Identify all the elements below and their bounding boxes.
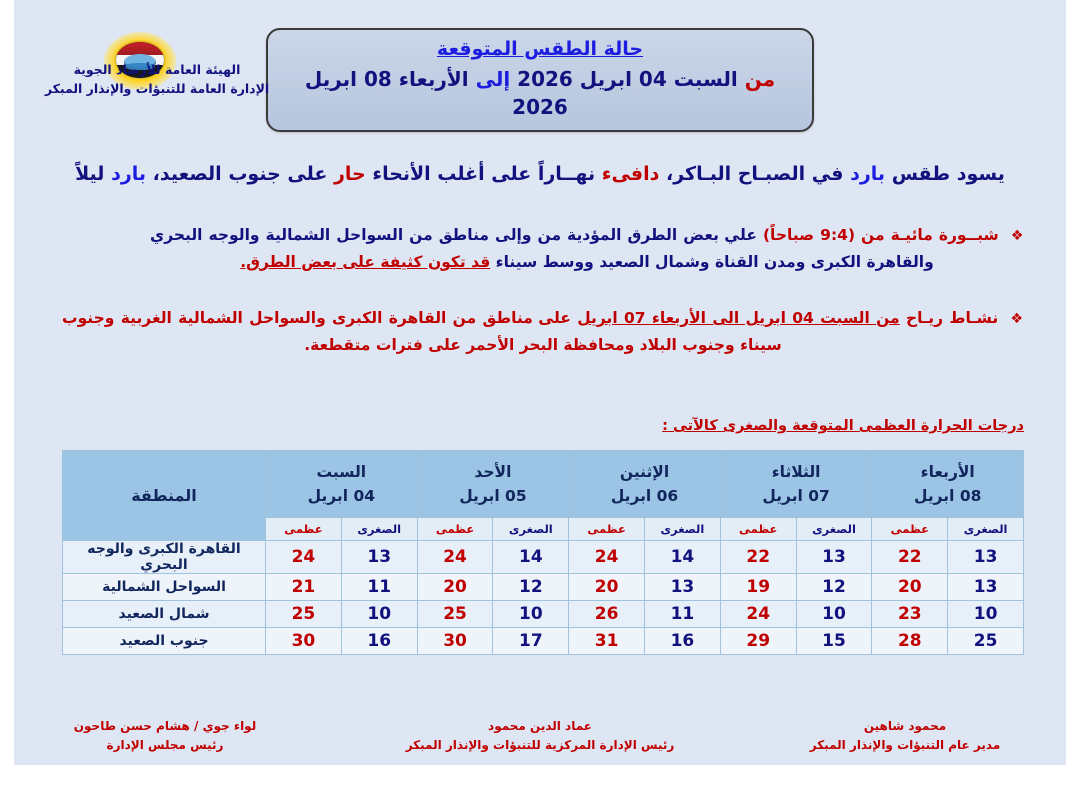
title-box: حالة الطقس المتوقعة من السبت 04 ابريل 20… — [266, 28, 814, 132]
wind-bullet-lead: نشـاط ريـاح — [906, 309, 998, 327]
min-temp-cell: 10 — [796, 601, 872, 628]
signature-name: لواء جوي / هشام حسن طاحون — [40, 717, 290, 736]
table-day-header-row: الأربعاء 08 ابريل الثلاثاء 07 ابريل الإث… — [63, 451, 1024, 518]
max-temp-cell: 30 — [266, 628, 342, 655]
max-temp-cell: 22 — [872, 541, 948, 574]
max-temp-cell: 19 — [720, 574, 796, 601]
max-temp-cell: 21 — [266, 574, 342, 601]
page-margin-bottom — [0, 765, 1080, 785]
day-date: 06 ابريل — [569, 484, 720, 508]
organization-block: الهيئة العامة للأرصاد الجوية الإدارة الع… — [32, 60, 282, 99]
lead-seg-cold-night: بارد — [111, 163, 146, 185]
min-temp-cell: 16 — [341, 628, 417, 655]
max-temp-cell: 24 — [569, 541, 645, 574]
min-temp-cell: 10 — [948, 601, 1024, 628]
day-header-sunday: الأحد 05 ابريل — [417, 451, 569, 518]
day-name: الأحد — [418, 460, 569, 484]
lead-seg-5: نهــاراً على أغلب الأنحاء — [372, 163, 595, 185]
day-header-saturday: السبت 04 ابريل — [266, 451, 418, 518]
max-temp-cell: 20 — [417, 574, 493, 601]
min-label-day-4: الصغرى — [948, 518, 1024, 541]
min-temp-cell: 13 — [948, 541, 1024, 574]
max-label-day-4: عظمى — [872, 518, 948, 541]
min-label-day-3: الصغرى — [796, 518, 872, 541]
signature-forecast-director: محمود شاهين مدير عام التنبؤات والإنذار ا… — [770, 717, 1040, 755]
signature-chairman: لواء جوي / هشام حسن طاحون رئيس مجلس الإد… — [40, 717, 290, 755]
bullet-marker-icon: ❖ — [1011, 228, 1024, 244]
max-temp-cell: 20 — [569, 574, 645, 601]
fog-bullet: ❖ شبــورة مائيـة من (9:4 صباحاً) علي بعض… — [150, 222, 1024, 275]
min-temp-cell: 13 — [645, 574, 721, 601]
day-name: السبت — [266, 460, 417, 484]
max-temp-cell: 25 — [417, 601, 493, 628]
min-temp-cell: 10 — [493, 601, 569, 628]
fog-bullet-highlight: شبــورة مائيـة من (9:4 صباحاً) — [763, 226, 999, 244]
page-margin-right — [1066, 0, 1080, 785]
wind-bullet-dates: من السبت 04 ابريل الى الأربعاء 07 ابريل — [577, 309, 899, 327]
min-temp-cell: 12 — [796, 574, 872, 601]
table-row: 25281529163117301630جنوب الصعيد — [63, 628, 1024, 655]
max-temp-cell: 28 — [872, 628, 948, 655]
region-cell: القاهرة الكبرى والوجه البحري — [63, 541, 266, 574]
page-margin-left — [0, 0, 14, 785]
min-temp-cell: 25 — [948, 628, 1024, 655]
min-temp-cell: 13 — [948, 574, 1024, 601]
min-temp-cell: 16 — [645, 628, 721, 655]
max-temp-cell: 30 — [417, 628, 493, 655]
lead-seg-warm: دافىء — [602, 163, 660, 185]
table-row: 13221322142414241324القاهرة الكبرى والوج… — [63, 541, 1024, 574]
min-temp-cell: 12 — [493, 574, 569, 601]
wind-bullet: ❖ نشـاط ريـاح من السبت 04 ابريل الى الأر… — [62, 305, 1024, 358]
min-temp-cell: 11 — [341, 574, 417, 601]
min-temp-cell: 15 — [796, 628, 872, 655]
signature-central-head: عماد الدين محمود رئيس الإدارة المركزية ل… — [375, 717, 705, 755]
day-date: 08 ابريل — [872, 484, 1023, 508]
bullet-marker-icon: ❖ — [1011, 311, 1024, 327]
region-column-header: المنطقة — [63, 451, 266, 541]
max-temp-cell: 24 — [417, 541, 493, 574]
organization-name: الهيئة العامة للأرصاد الجوية — [32, 60, 282, 79]
min-temp-cell: 10 — [341, 601, 417, 628]
signature-role: مدير عام التنبؤات والإنذار المبكر — [770, 736, 1040, 755]
signature-name: عماد الدين محمود — [375, 717, 705, 736]
max-temp-cell: 31 — [569, 628, 645, 655]
min-temp-cell: 11 — [645, 601, 721, 628]
lead-seg-9: ليلاً — [75, 163, 104, 185]
min-temp-cell: 14 — [493, 541, 569, 574]
max-label-day-3: عظمى — [720, 518, 796, 541]
lead-seg-7: على جنوب الصعيد، — [153, 163, 328, 185]
max-temp-cell: 23 — [872, 601, 948, 628]
temperature-table-wrapper: الأربعاء 08 ابريل الثلاثاء 07 ابريل الإث… — [62, 450, 1024, 655]
max-temp-cell: 22 — [720, 541, 796, 574]
min-label-day-1: الصغرى — [493, 518, 569, 541]
max-label-day-1: عظمى — [417, 518, 493, 541]
region-cell: جنوب الصعيد — [63, 628, 266, 655]
signature-name: محمود شاهين — [770, 717, 1040, 736]
max-label-day-2: عظمى — [569, 518, 645, 541]
day-date: 07 ابريل — [721, 484, 872, 508]
lead-seg-3: في الصبـاح البـاكر، — [666, 163, 843, 185]
min-temp-cell: 14 — [645, 541, 721, 574]
max-temp-cell: 24 — [720, 601, 796, 628]
day-header-wednesday: الأربعاء 08 ابريل — [872, 451, 1024, 518]
max-temp-cell: 20 — [872, 574, 948, 601]
table-row: 13201219132012201121السواحل الشمالية — [63, 574, 1024, 601]
signature-role: رئيس مجلس الإدارة — [40, 736, 290, 755]
department-name: الإدارة العامة للتنبؤات والإنذار المبكر — [32, 79, 282, 98]
table-row: 10231024112610251025شمال الصعيد — [63, 601, 1024, 628]
max-temp-cell: 29 — [720, 628, 796, 655]
day-name: الأربعاء — [872, 460, 1023, 484]
min-temp-cell: 13 — [341, 541, 417, 574]
region-cell: السواحل الشمالية — [63, 574, 266, 601]
weather-forecast-page: حالة الطقس المتوقعة من السبت 04 ابريل 20… — [0, 0, 1080, 785]
day-header-monday: الإثنين 06 ابريل — [569, 451, 721, 518]
day-header-tuesday: الثلاثاء 07 ابريل — [720, 451, 872, 518]
lead-seg-cold-morning: بارد — [850, 163, 885, 185]
document-footer: محمود شاهين مدير عام التنبؤات والإنذار ا… — [14, 711, 1066, 763]
page-title: حالة الطقس المتوقعة — [278, 37, 802, 63]
max-temp-cell: 25 — [266, 601, 342, 628]
day-date: 05 ابريل — [418, 484, 569, 508]
lead-paragraph: يسود طقس بارد في الصبـاح البـاكر، دافىء … — [14, 160, 1066, 189]
period-to-word: إلى — [476, 67, 511, 91]
max-temp-cell: 26 — [569, 601, 645, 628]
temperature-table-body: 13221322142414241324القاهرة الكبرى والوج… — [63, 541, 1024, 655]
min-temp-cell: 17 — [493, 628, 569, 655]
period-from-date: السبت 04 ابريل 2026 — [517, 67, 738, 91]
document-header: حالة الطقس المتوقعة من السبت 04 ابريل 20… — [14, 24, 1066, 110]
min-temp-cell: 13 — [796, 541, 872, 574]
day-date: 04 ابريل — [266, 484, 417, 508]
period-from-word: من — [745, 67, 775, 91]
fog-bullet-warning: قد تكون كثيفة على بعض الطرق. — [240, 253, 490, 271]
day-name: الثلاثاء — [721, 460, 872, 484]
signature-role: رئيس الإدارة المركزية للتنبؤات والإنذار … — [375, 736, 705, 755]
day-name: الإثنين — [569, 460, 720, 484]
min-label-day-2: الصغرى — [645, 518, 721, 541]
lead-seg-1: يسود طقس — [892, 163, 1005, 185]
max-label-day-0: عظمى — [266, 518, 342, 541]
min-label-day-0: الصغرى — [341, 518, 417, 541]
forecast-period: من السبت 04 ابريل 2026 إلى الأربعاء 08 ا… — [278, 65, 802, 121]
temperature-table-caption: درجات الحرارة العظمى المتوقعة والصغرى كا… — [662, 418, 1024, 434]
temperature-table: الأربعاء 08 ابريل الثلاثاء 07 ابريل الإث… — [62, 450, 1024, 655]
lead-seg-hot: حار — [334, 163, 366, 185]
region-cell: شمال الصعيد — [63, 601, 266, 628]
max-temp-cell: 24 — [266, 541, 342, 574]
